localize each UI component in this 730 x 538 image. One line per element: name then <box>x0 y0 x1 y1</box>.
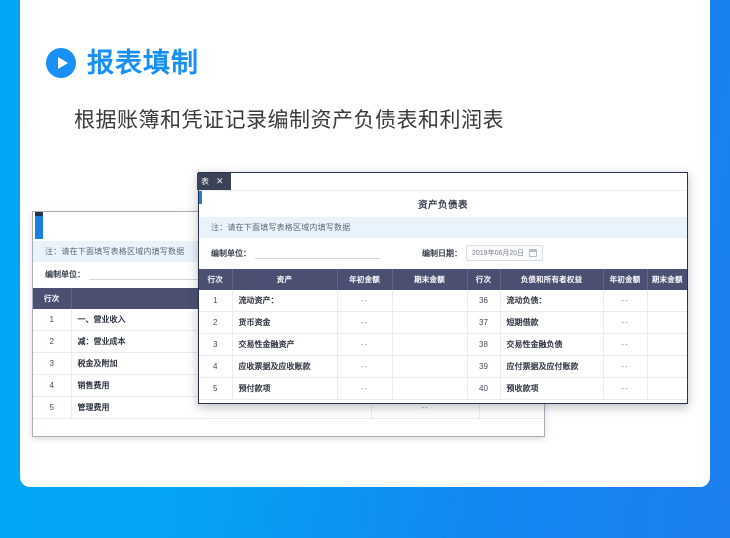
front-cell-liability[interactable]: 预收款项 <box>500 378 603 400</box>
front-cell-liability[interactable]: 交易性金融负债 <box>500 334 603 356</box>
front-cell-begin-left[interactable]: -- <box>337 378 392 400</box>
tab-label: 表 <box>201 176 209 187</box>
front-date-value: 2019年06月20日 <box>472 248 524 258</box>
sheet-title-bar: 资产负债表 <box>199 190 687 217</box>
back-cell-no: 1 <box>33 309 71 331</box>
front-cell-begin-left[interactable]: -- <box>337 290 392 312</box>
table-row[interactable]: 2 货币资金 -- 37 短期借款 -- <box>199 312 687 334</box>
front-cell-end-right[interactable] <box>647 356 687 378</box>
back-window-accent-bar <box>35 213 43 239</box>
table-row[interactable]: 5 预付款项 -- 40 预收款项 -- <box>199 378 687 400</box>
front-date-label: 编制日期： <box>422 248 462 259</box>
front-col-end-left: 期末金额 <box>392 269 467 290</box>
front-cell-lineno-right: 39 <box>467 356 500 378</box>
page-title: 报表填制 <box>87 50 199 77</box>
front-table-header-row: 行次 资产 年初金额 期末金额 行次 负债和所有者权益 年初金额 期末金额 <box>199 269 687 290</box>
front-col-begin-left: 年初金额 <box>337 269 392 290</box>
front-cell-lineno-left: 5 <box>199 378 232 400</box>
front-cell-begin-left[interactable]: -- <box>337 356 392 378</box>
front-cell-liability[interactable]: 应付票据及应付账款 <box>500 356 603 378</box>
front-cell-end-right[interactable] <box>647 378 687 400</box>
front-cell-begin-right[interactable]: -- <box>603 356 647 378</box>
front-col-liability: 负债和所有者权益 <box>500 269 603 290</box>
tabstrip: 表 ✕ <box>199 173 687 190</box>
front-cell-lineno-right: 37 <box>467 312 500 334</box>
front-meta-row: 编制单位： 编制日期： 2019年06月20日 <box>199 238 687 269</box>
front-col-begin-right: 年初金额 <box>603 269 647 290</box>
back-cell-no: 4 <box>33 375 71 397</box>
front-cell-end-right[interactable] <box>647 334 687 356</box>
tab-balance-sheet[interactable]: 表 ✕ <box>197 173 231 190</box>
front-col-lineno-right: 行次 <box>467 269 500 290</box>
front-cell-liability[interactable]: 流动负债： <box>500 290 603 312</box>
front-date-input[interactable]: 2019年06月20日 <box>466 245 543 261</box>
front-cell-begin-left[interactable]: -- <box>337 312 392 334</box>
front-cell-asset[interactable]: 预付款项 <box>232 378 337 400</box>
calendar-icon[interactable] <box>529 249 537 257</box>
front-col-end-right: 期末金额 <box>647 269 687 290</box>
balance-sheet-window[interactable]: 表 ✕ 资产负债表 注：请在下面填写表格区域内填写数据 编制单位： 编制日期： … <box>198 172 688 404</box>
back-cell-no: 5 <box>33 397 71 419</box>
close-icon[interactable]: ✕ <box>216 177 224 186</box>
front-col-lineno-left: 行次 <box>199 269 232 290</box>
front-cell-lineno-right: 40 <box>467 378 500 400</box>
front-cell-asset[interactable]: 应收票据及应收账款 <box>232 356 337 378</box>
back-cell-no: 2 <box>33 331 71 353</box>
front-cell-lineno-left: 4 <box>199 356 232 378</box>
front-cell-end-left[interactable] <box>392 356 467 378</box>
front-cell-asset[interactable]: 交易性金融资产 <box>232 334 337 356</box>
front-note-bar: 注：请在下面填写表格区域内填写数据 <box>199 217 687 238</box>
front-cell-begin-right[interactable]: -- <box>603 334 647 356</box>
front-cell-end-right[interactable] <box>647 312 687 334</box>
front-cell-begin-right[interactable]: -- <box>603 378 647 400</box>
back-col-lineno: 行次 <box>33 288 71 309</box>
front-cell-end-right[interactable] <box>647 290 687 312</box>
back-window-accent-cap <box>35 212 43 216</box>
table-row[interactable]: 1 流动资产： -- 36 流动负债： -- <box>199 290 687 312</box>
front-unit-label: 编制单位： <box>211 248 251 259</box>
front-cell-asset[interactable]: 流动资产： <box>232 290 337 312</box>
back-unit-label: 编制单位： <box>45 269 85 280</box>
front-cell-lineno-right: 38 <box>467 334 500 356</box>
front-cell-begin-right[interactable]: -- <box>603 312 647 334</box>
back-cell-no: 3 <box>33 353 71 375</box>
page-header: 报表填制 根据账簿和凭证记录编制资产负债表和利润表 <box>46 48 666 134</box>
front-cell-lineno-left: 1 <box>199 290 232 312</box>
front-cell-lineno-left: 3 <box>199 334 232 356</box>
front-cell-end-left[interactable] <box>392 290 467 312</box>
front-cell-end-left[interactable] <box>392 312 467 334</box>
front-cell-end-left[interactable] <box>392 334 467 356</box>
play-icon <box>46 48 76 78</box>
front-cell-begin-right[interactable]: -- <box>603 290 647 312</box>
front-cell-begin-left[interactable]: -- <box>337 334 392 356</box>
front-unit-input[interactable] <box>255 248 380 259</box>
balance-sheet-table: 行次 资产 年初金额 期末金额 行次 负债和所有者权益 年初金额 期末金额 1 … <box>199 269 687 400</box>
front-cell-asset[interactable]: 货币资金 <box>232 312 337 334</box>
page-background: 报表填制 根据账簿和凭证记录编制资产负债表和利润表 注：请在下面填写表格区域内填… <box>0 0 730 538</box>
table-row[interactable]: 3 交易性金融资产 -- 38 交易性金融负债 -- <box>199 334 687 356</box>
page-subtitle: 根据账簿和凭证记录编制资产负债表和利润表 <box>74 104 666 134</box>
title-row: 报表填制 <box>46 48 666 78</box>
table-row[interactable]: 4 应收票据及应收账款 -- 39 应付票据及应付账款 -- <box>199 356 687 378</box>
front-col-asset: 资产 <box>232 269 337 290</box>
front-cell-lineno-left: 2 <box>199 312 232 334</box>
sheet-title: 资产负债表 <box>418 197 468 211</box>
front-cell-lineno-right: 36 <box>467 290 500 312</box>
front-cell-end-left[interactable] <box>392 378 467 400</box>
front-cell-liability[interactable]: 短期借款 <box>500 312 603 334</box>
